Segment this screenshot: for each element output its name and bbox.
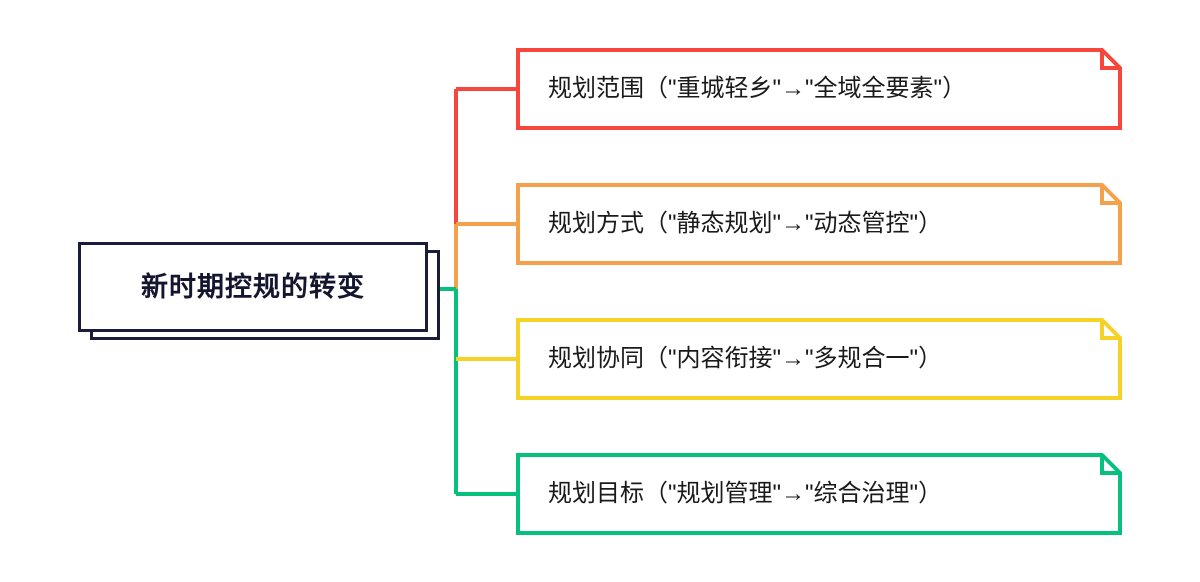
root-node-front-card: 新时期控规的转变	[78, 242, 428, 332]
branch-2-label: 规划方式（"静态规划"→"动态管控"）	[516, 183, 1122, 265]
branch-node-1[interactable]: 规划范围（"重城轻乡"→"全域全要素"）	[516, 48, 1122, 130]
branch-node-3[interactable]: 规划协同（"内容衔接"→"多规合一"）	[516, 318, 1122, 400]
branch-1-label: 规划范围（"重城轻乡"→"全域全要素"）	[516, 48, 1122, 130]
branch-node-2[interactable]: 规划方式（"静态规划"→"动态管控"）	[516, 183, 1122, 265]
root-node[interactable]: 新时期控规的转变	[78, 242, 428, 332]
branch-4-label: 规划目标（"规划管理"→"综合治理"）	[516, 453, 1122, 535]
root-node-label: 新时期控规的转变	[141, 274, 365, 301]
branch-3-label: 规划协同（"内容衔接"→"多规合一"）	[516, 318, 1122, 400]
mind-map-canvas: 新时期控规的转变 规划范围（"重城轻乡"→"全域全要素"） 规划方式（"静态规划…	[0, 0, 1200, 582]
branch-node-4[interactable]: 规划目标（"规划管理"→"综合治理"）	[516, 453, 1122, 535]
